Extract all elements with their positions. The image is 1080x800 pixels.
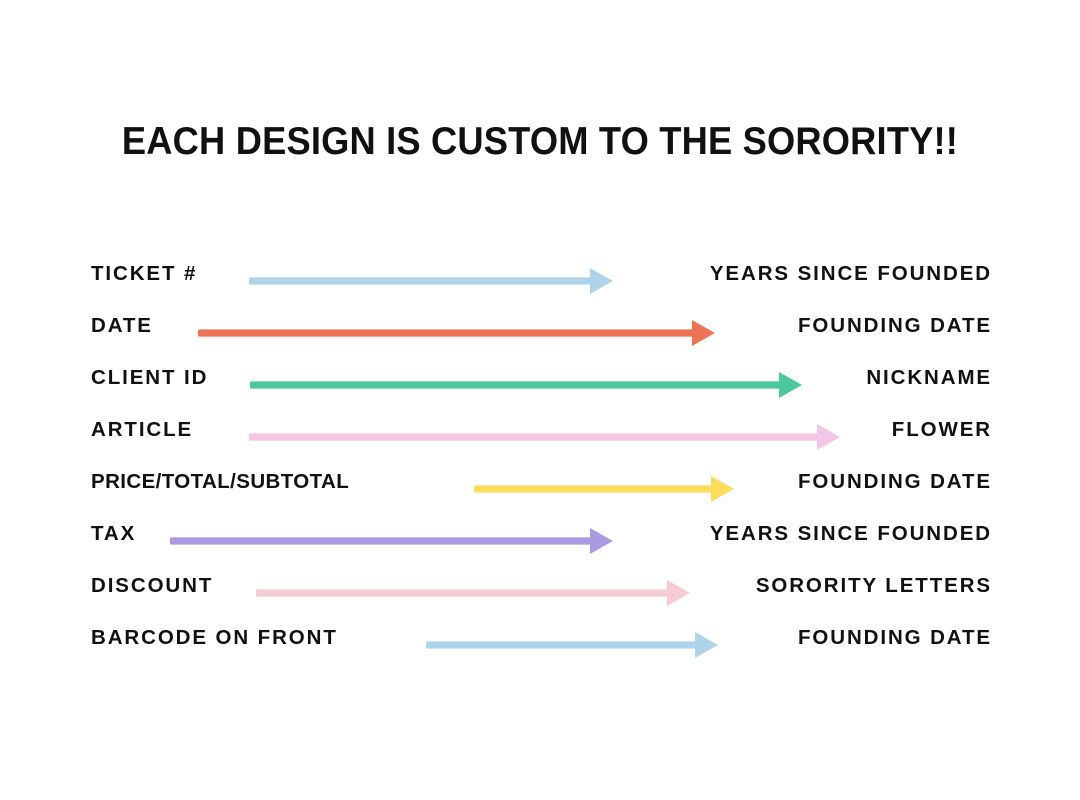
right-arrow-icon (170, 528, 613, 554)
mapping-target-label: SORORITY LETTERS (756, 567, 992, 605)
mapping-row: TICKET #YEARS SINCE FOUNDED (91, 255, 992, 307)
mapping-source-label: TAX (91, 515, 136, 553)
mapping-row: DATEFOUNDING DATE (91, 307, 992, 359)
mapping-target-label: FOUNDING DATE (798, 463, 992, 501)
mapping-row: PRICE/TOTAL/SUBTOTALFOUNDING DATE (91, 463, 992, 515)
mapping-row: ARTICLEFLOWER (91, 411, 992, 463)
mapping-target-label: NICKNAME (866, 359, 992, 397)
mapping-list: TICKET #YEARS SINCE FOUNDEDDATEFOUNDING … (91, 255, 992, 671)
mapping-target-label: FLOWER (892, 411, 992, 449)
mapping-source-label: TICKET # (91, 255, 197, 293)
mapping-row: BARCODE ON FRONTFOUNDING DATE (91, 619, 992, 671)
right-arrow-icon (249, 268, 613, 294)
mapping-source-label: ARTICLE (91, 411, 193, 449)
mapping-target-label: YEARS SINCE FOUNDED (710, 255, 992, 293)
mapping-source-label: DATE (91, 307, 153, 345)
slide-canvas: EACH DESIGN IS CUSTOM TO THE SORORITY!! … (0, 0, 1080, 800)
mapping-target-label: YEARS SINCE FOUNDED (710, 515, 992, 553)
mapping-row: CLIENT IDNICKNAME (91, 359, 992, 411)
right-arrow-icon (198, 320, 715, 346)
mapping-row: TAXYEARS SINCE FOUNDED (91, 515, 992, 567)
mapping-source-label: PRICE/TOTAL/SUBTOTAL (91, 463, 349, 501)
mapping-source-label: DISCOUNT (91, 567, 213, 605)
mapping-source-label: CLIENT ID (91, 359, 208, 397)
mapping-row: DISCOUNTSORORITY LETTERS (91, 567, 992, 619)
right-arrow-icon (250, 372, 802, 398)
mapping-source-label: BARCODE ON FRONT (91, 619, 338, 657)
mapping-target-label: FOUNDING DATE (798, 307, 992, 345)
right-arrow-icon (426, 632, 718, 658)
right-arrow-icon (256, 580, 690, 606)
mapping-target-label: FOUNDING DATE (798, 619, 992, 657)
right-arrow-icon (249, 424, 840, 450)
right-arrow-icon (474, 476, 734, 502)
page-title: EACH DESIGN IS CUSTOM TO THE SORORITY!! (38, 118, 1042, 166)
